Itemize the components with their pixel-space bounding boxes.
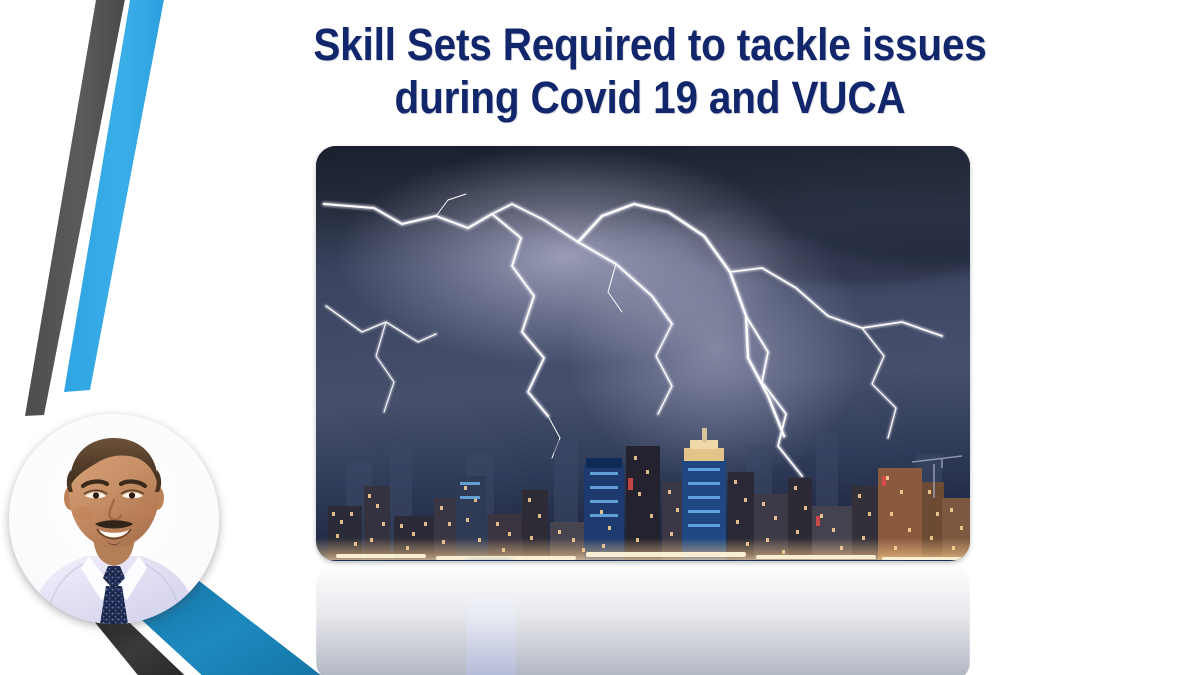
hero-image-reflection <box>316 564 970 675</box>
hero-image <box>316 146 970 561</box>
blue-stripe-shape <box>64 0 165 392</box>
reflection-content <box>316 564 970 675</box>
water-layer <box>316 146 970 561</box>
page-title: Skill Sets Required to tackle issues dur… <box>232 18 1069 124</box>
hero-image-container <box>316 146 970 561</box>
avatar <box>9 414 219 624</box>
gray-stripe-shape <box>25 0 126 416</box>
presenter-portrait-icon <box>9 414 219 624</box>
slide-canvas: Skill Sets Required to tackle issues dur… <box>0 0 1200 675</box>
